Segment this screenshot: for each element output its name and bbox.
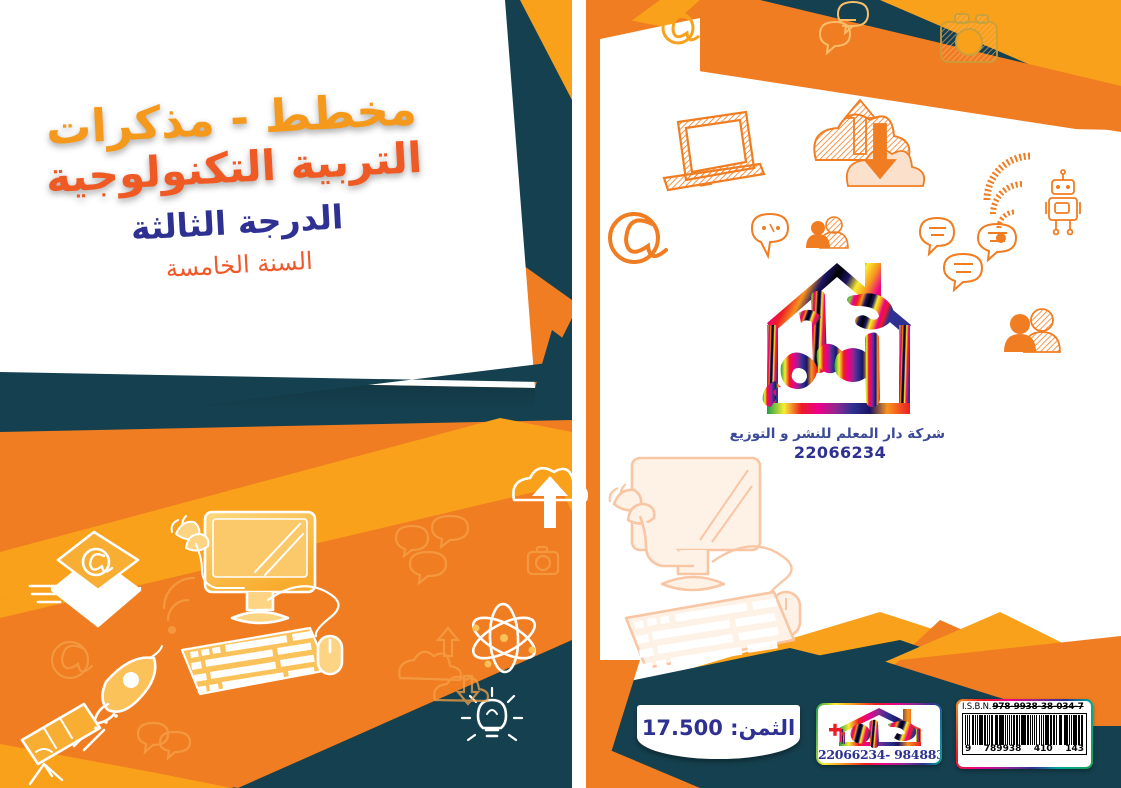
barcode-bars	[965, 715, 1084, 745]
barcode-digits-mid: 789938	[984, 744, 1022, 754]
back-cover-title-block: مخطط - مذكرات التربية التكنولوجية الدرجة…	[0, 82, 475, 290]
barcode-digits: 9 789938 410 143	[965, 744, 1084, 754]
speech-bubbles-top-icon	[820, 2, 868, 53]
cloud-sync-icon	[814, 100, 924, 186]
people-group-icon-2	[1004, 309, 1060, 352]
laptop-icon	[664, 112, 764, 190]
barcode-digit-left: 9	[965, 744, 971, 754]
isbn-label: I.S.B.N.	[962, 703, 991, 712]
isbn-line: I.S.B.N. 978-9938-38-034-7	[962, 703, 1087, 712]
publisher-logo: شركة دار المعلم للنشر و التوزيع 22066234	[735, 255, 945, 462]
camera-icon	[941, 14, 997, 62]
chat-bubble-icon	[752, 214, 788, 256]
price-label: الثمن: 17.500	[637, 705, 800, 759]
isbn-barcode-box: I.S.B.N. 978-9938-38-034-7 9 789938 410 …	[956, 699, 1093, 769]
price-banner: الثمن: 17.500	[637, 705, 800, 759]
barcode-digits-right-b: 143	[1065, 744, 1084, 754]
people-group-icon	[806, 217, 848, 248]
dar-almoalem-mini-logo-icon	[825, 706, 933, 748]
at-sign-icon	[610, 214, 666, 262]
wifi-icon	[987, 156, 1031, 243]
publisher-phone: 22066234	[735, 443, 945, 462]
isbn-code: 978-9938-38-034-7	[992, 703, 1083, 712]
at-sign-small-icon	[663, 13, 699, 43]
book-cover-canvas: مخطط - مذكرات التربية التكنولوجية الدرجة…	[0, 0, 1121, 788]
mini-logo-inner: 22066234- 98488332	[818, 705, 940, 763]
dar-almoalem-logo-icon	[745, 255, 935, 425]
isbn-inner: I.S.B.N. 978-9938-38-034-7 9 789938 410 …	[958, 701, 1091, 767]
robot-icon	[1046, 170, 1080, 234]
barcode: 9 789938 410 143	[962, 713, 1087, 755]
publisher-name: شركة دار المعلم للنشر و التوزيع	[735, 426, 945, 442]
mini-logo-phones: 22066234- 98488332	[818, 747, 940, 762]
monitor-watermark-icon	[610, 458, 800, 671]
barcode-digits-right-a: 410	[1034, 744, 1053, 754]
mini-publisher-logo: 22066234- 98488332	[816, 703, 942, 765]
